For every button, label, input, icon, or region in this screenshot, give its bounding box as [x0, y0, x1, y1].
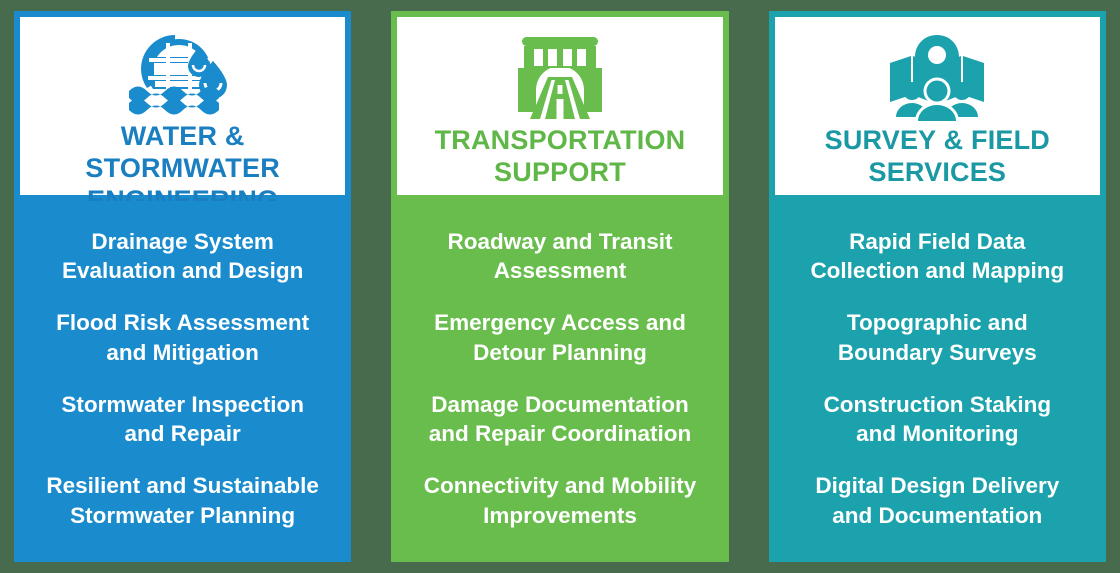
bridge-roadway-icon	[510, 31, 610, 123]
panel-survey-field-services[interactable]: SURVEY & FIELD SERVICES Rapid Field Data…	[769, 11, 1106, 562]
panel-water-stormwater-engineering[interactable]: WATER & STORMWATER ENGINEERING Drainage …	[14, 11, 351, 562]
list-item: Connectivity and Mobility Improvements	[420, 471, 701, 530]
panel-title: TRANSPORTATION SUPPORT	[397, 125, 722, 189]
list-item: Damage Documentation and Repair Coordina…	[425, 390, 696, 449]
panel-body-survey-field-services: Rapid Field Data Collection and Mapping …	[769, 201, 1106, 562]
panel-title: SURVEY & FIELD SERVICES	[775, 125, 1100, 189]
list-item: Roadway and Transit Assessment	[443, 227, 676, 286]
panel-body-water-stormwater-engineering: Drainage System Evaluation and Design Fl…	[14, 201, 351, 562]
list-item: Stormwater Inspection and Repair	[57, 390, 308, 449]
list-item: Topographic and Boundary Surveys	[834, 308, 1041, 367]
list-item: Rapid Field Data Collection and Mapping	[806, 227, 1068, 286]
panel-header-transportation-support: TRANSPORTATION SUPPORT	[391, 11, 728, 201]
list-item: Drainage System Evaluation and Design	[58, 227, 307, 286]
list-item: Flood Risk Assessment and Mitigation	[52, 308, 313, 367]
panel-header-water-stormwater-engineering: WATER & STORMWATER ENGINEERING	[14, 11, 351, 201]
list-item: Construction Staking and Monitoring	[820, 390, 1056, 449]
services-board: WATER & STORMWATER ENGINEERING Drainage …	[0, 0, 1120, 573]
panel-transportation-support[interactable]: TRANSPORTATION SUPPORT Roadway and Trans…	[391, 11, 728, 562]
panel-header-survey-field-services: SURVEY & FIELD SERVICES	[769, 11, 1106, 201]
list-item: Digital Design Delivery and Documentatio…	[811, 471, 1063, 530]
globe-water-droplets-icon	[123, 31, 243, 119]
panel-body-transportation-support: Roadway and Transit Assessment Emergency…	[391, 201, 728, 562]
list-item: Resilient and Sustainable Stormwater Pla…	[42, 471, 323, 530]
list-item: Emergency Access and Detour Planning	[430, 308, 690, 367]
map-pin-team-icon	[884, 31, 990, 123]
